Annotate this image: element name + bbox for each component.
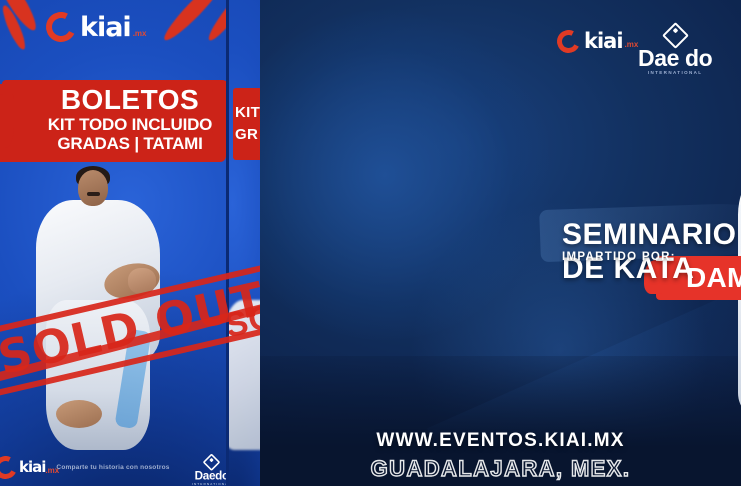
kiai-logo-text: kiai: [584, 31, 623, 52]
daedo-logo-sub: INTERNATIONAL: [648, 71, 703, 76]
slide-subline-2: GRADAS | TATAMI: [0, 134, 260, 154]
kiai-logo-tld: .mx: [133, 29, 147, 38]
presented-by-label: IMPARTIDO POR:: [562, 251, 676, 263]
event-url[interactable]: WWW.EVENTOS.KIAI.MX: [260, 430, 741, 452]
kiai-logo[interactable]: kiai .mx: [46, 12, 146, 42]
next-slide-peek[interactable]: KIT GR SO: [226, 0, 260, 486]
kiai-ring-icon: [42, 8, 80, 46]
kiai-logo-text: kiai: [80, 14, 131, 41]
promo-carousel: kiai .mx BOLETOS KIT TODO INCLUIDO GRADA…: [0, 0, 741, 486]
slide-caption: Comparte tu historia con nosotros: [0, 464, 226, 471]
slide-seminario-de-kata[interactable]: kiai .mx Dae do INTERNATIONAL SEMINARIO …: [260, 0, 741, 486]
athlete-moustache: [87, 192, 100, 196]
slide-boletos-sold-out[interactable]: kiai .mx BOLETOS KIT TODO INCLUIDO GRADA…: [0, 0, 260, 486]
athlete-head: [78, 170, 108, 206]
kiai-logo-header[interactable]: kiai .mx: [557, 30, 638, 53]
daedo-logo-text: Daedo: [195, 470, 229, 482]
daedo-logo-header[interactable]: Dae do INTERNATIONAL: [638, 26, 712, 76]
event-city: GUADALAJARA, MEX.: [260, 456, 741, 482]
slide-headline: BOLETOS: [0, 84, 260, 116]
kiai-logo-tld: .mx: [625, 40, 639, 49]
kiai-ring-icon: [554, 27, 583, 56]
daedo-logo-text: Dae do: [638, 47, 712, 70]
instructor-name: DAMIÁN QUINTERO: [662, 262, 741, 294]
athlete-foot: [56, 400, 102, 428]
slide-subline-1: KIT TODO INCLUIDO: [0, 115, 260, 135]
